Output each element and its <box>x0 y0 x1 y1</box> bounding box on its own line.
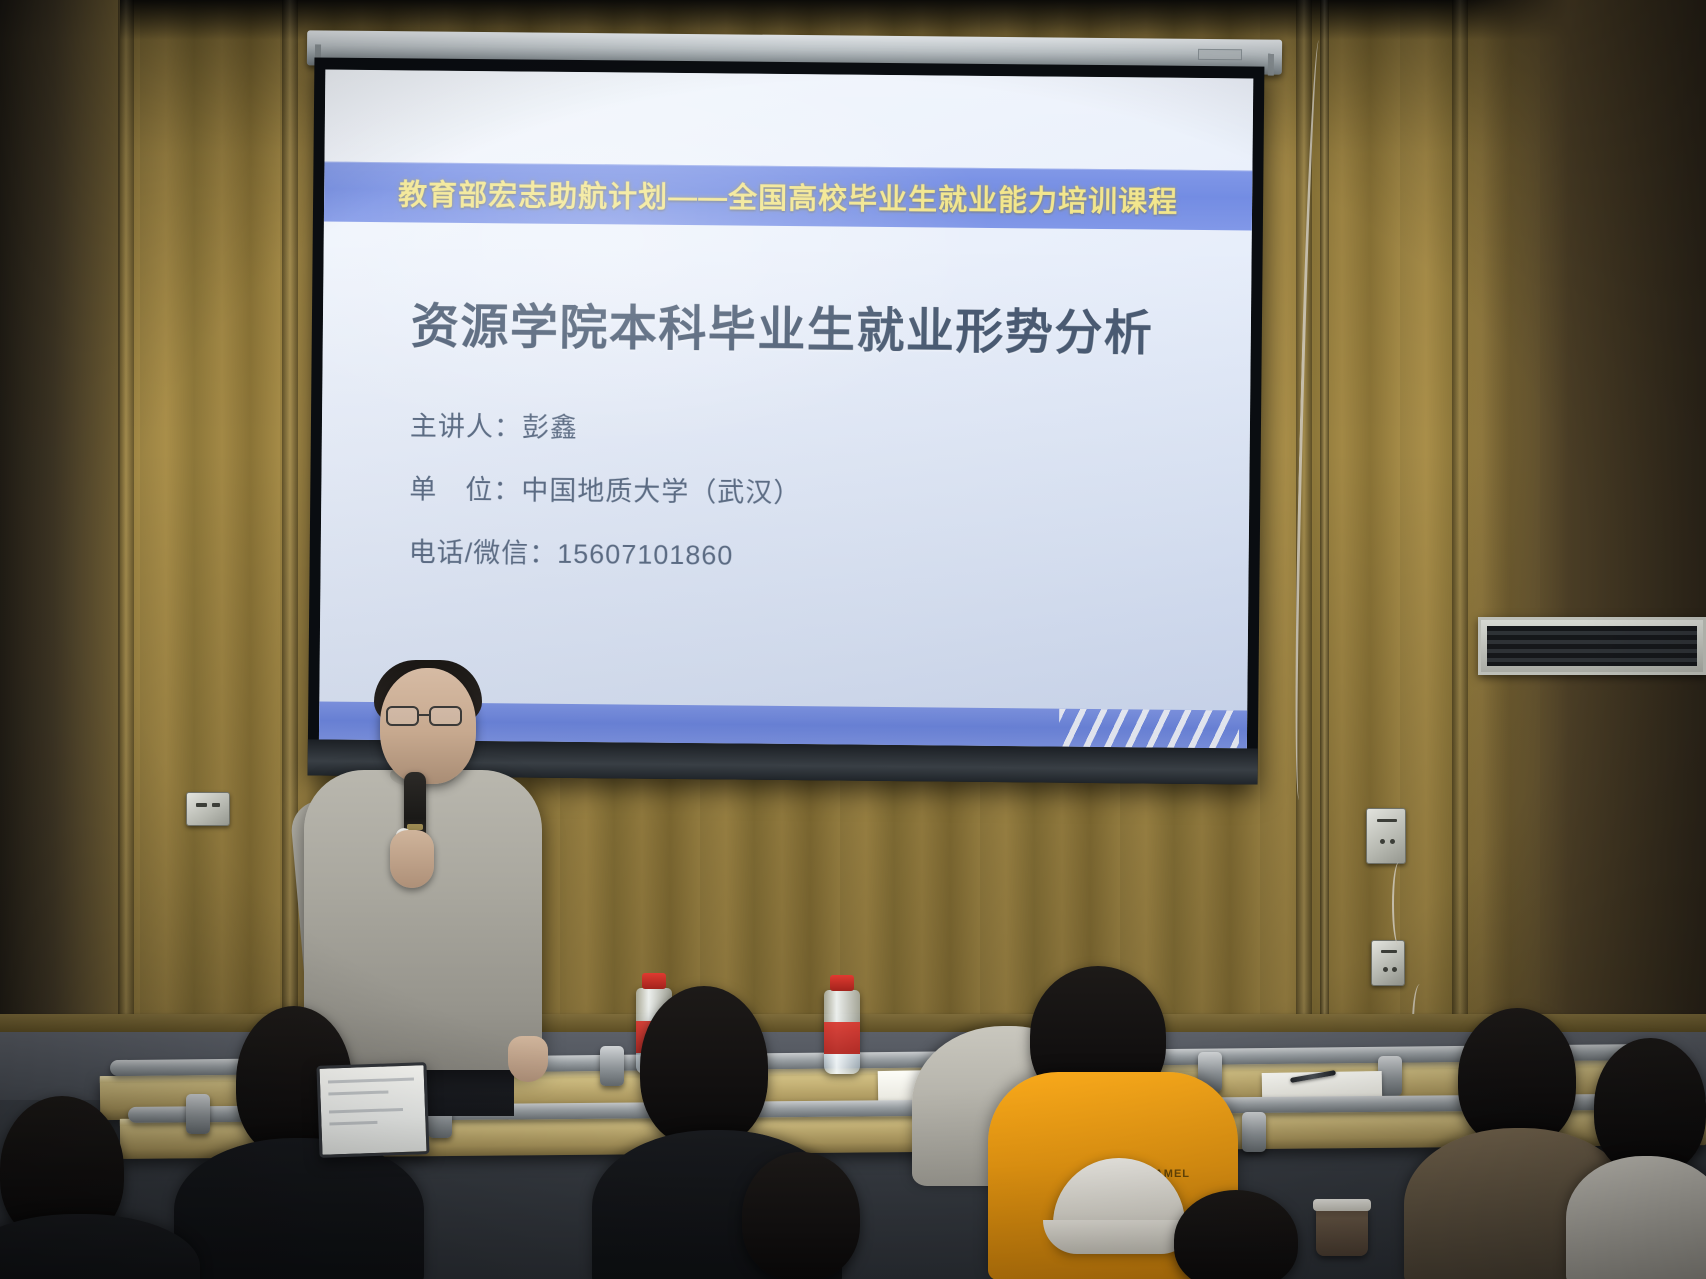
audience-head <box>640 986 768 1146</box>
screen-surface: 教育部宏志助航计划——全国高校毕业生就业能力培训课程 资源学院本科毕业生就业形势… <box>319 70 1253 749</box>
drink-cup <box>1316 1206 1368 1256</box>
presentation-slide: 教育部宏志助航计划——全国高校毕业生就业能力培训课程 资源学院本科毕业生就业形势… <box>319 70 1253 749</box>
bottle-cap <box>642 973 666 989</box>
slide-stripe-decoration <box>1059 709 1239 749</box>
bottle-cap <box>830 975 854 991</box>
wall-vent-grille <box>1478 617 1706 675</box>
audience-head <box>1174 1190 1298 1279</box>
wall-outlet-right-upper <box>1366 808 1406 864</box>
bottle-label <box>824 1022 860 1054</box>
slide-title: 资源学院本科毕业生就业形势分析 <box>411 286 1252 364</box>
audience-shoulders <box>1566 1156 1706 1279</box>
cup-lid <box>1313 1199 1371 1211</box>
lecture-hall-scene: 教育部宏志助航计划——全国高校毕业生就业能力培训课程 资源学院本科毕业生就业形势… <box>0 0 1706 1279</box>
slide-banner-text: 教育部宏志助航计划——全国高校毕业生就业能力培训课程 <box>398 171 1178 220</box>
presenter-head <box>380 668 476 784</box>
slide-meta-affiliation: 单 位：中国地质大学（武汉） <box>409 467 1249 514</box>
vent-louvers <box>1487 626 1697 666</box>
slide-meta-contact: 电话/微信：15607101860 <box>409 530 1249 577</box>
screen-bracket <box>1268 54 1274 76</box>
rail-clamp <box>186 1094 210 1134</box>
laptop-screen <box>316 1062 429 1158</box>
ceiling-shadow <box>0 0 1706 40</box>
glasses-icon <box>386 706 472 726</box>
presenter-hand-on-desk <box>508 1036 548 1082</box>
slide-meta-speaker: 主讲人：彭鑫 <box>410 404 1250 451</box>
water-bottle <box>824 990 860 1074</box>
audience-head <box>1458 1008 1576 1146</box>
wall-outlet-right-lower <box>1371 940 1405 986</box>
cap-brim <box>1043 1220 1195 1254</box>
wall-outlet-left <box>186 792 230 826</box>
slide-body: 资源学院本科毕业生就业形势分析 主讲人：彭鑫 单 位：中国地质大学（武汉） 电话… <box>319 222 1252 711</box>
rail-clamp <box>600 1046 624 1086</box>
audience-head <box>742 1152 860 1279</box>
audience-shoulders <box>174 1138 424 1279</box>
rail-clamp <box>1242 1112 1266 1152</box>
wall-cable-segment <box>1392 862 1406 946</box>
slide-meta-list: 主讲人：彭鑫 单 位：中国地质大学（武汉） 电话/微信：15607101860 <box>409 404 1251 577</box>
slide-banner: 教育部宏志助航计划——全国高校毕业生就业能力培训课程 <box>324 162 1253 231</box>
presenter-hand-holding-mic <box>390 830 434 888</box>
screen-housing-label <box>1198 49 1242 60</box>
audience-head <box>1594 1038 1706 1174</box>
